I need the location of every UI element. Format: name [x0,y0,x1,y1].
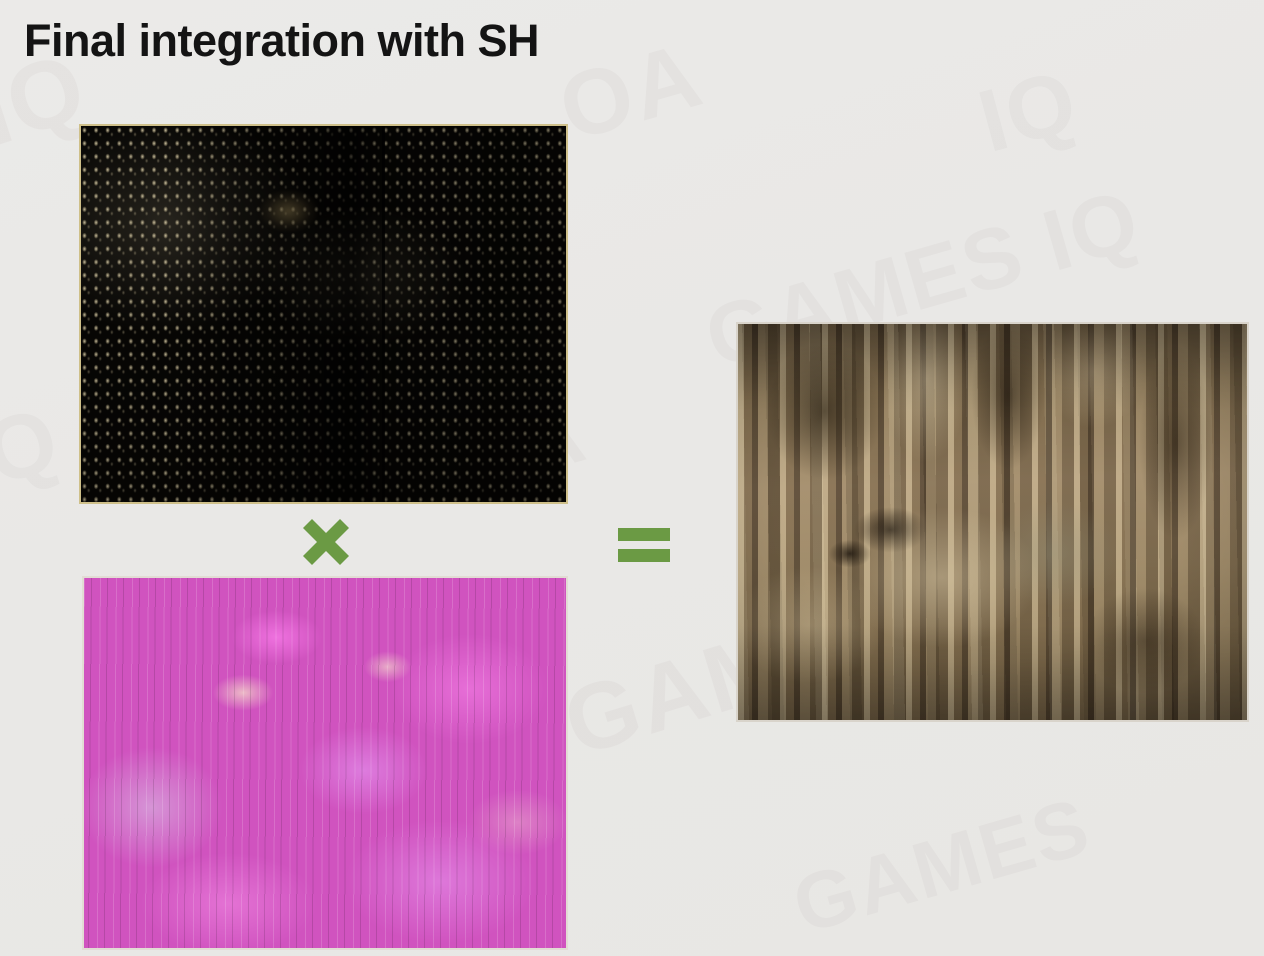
sh-probe-grid-image [79,124,568,504]
sh-grid-shading [81,126,566,502]
normal-map-streaks [84,578,566,948]
final-render-image [736,322,1249,722]
page-title: Final integration with SH [24,16,539,66]
watermark-text: OA [548,22,713,162]
slide-canvas: IQ OA IQ GAMES GAMES IQ IQ A GAMES GAMES… [0,0,1264,956]
equals-icon [614,520,678,568]
multiply-icon [298,514,354,570]
sh-grid-seam [382,126,385,502]
cave-wall-vignette [738,324,1247,720]
watermark-text: IQ [0,387,73,516]
normal-map-image [82,576,568,950]
watermark-text: GAMES [783,780,1100,952]
watermark-text: IQ [968,49,1088,173]
